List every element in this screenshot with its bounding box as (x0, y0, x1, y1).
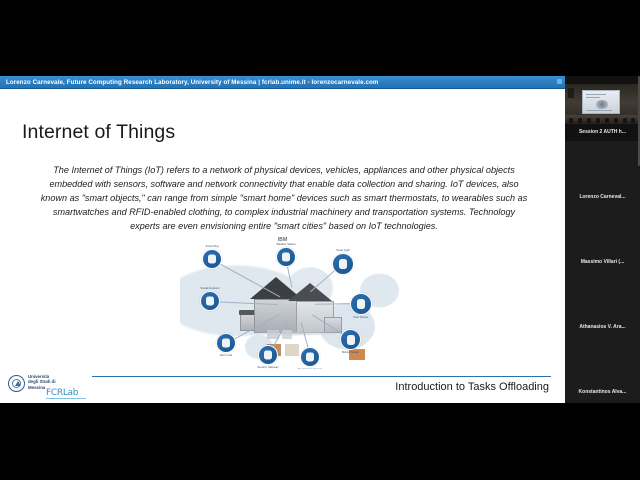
audience-head (614, 118, 618, 123)
participant-tile[interactable]: Session 2 AUTH h... (565, 76, 640, 141)
participant-name: Athanasios V. Ara... (565, 324, 640, 330)
university-name-line: degli Studi di (28, 379, 56, 384)
participant-rail[interactable]: Session 2 AUTH h...Lorenzo Carneval...Ma… (565, 76, 640, 403)
screen-text-line (586, 94, 606, 95)
fcrlab-logo-underline (46, 398, 86, 399)
fcrlab-logo-text: FCRLab (46, 388, 78, 398)
smart-home-iot-diagram: 123RF (180, 247, 412, 375)
iot-device-icon (347, 335, 355, 345)
audience-head (605, 118, 609, 123)
audience-head (569, 118, 573, 123)
projection-screen (582, 90, 620, 114)
house-illustration (248, 273, 344, 339)
iot-device-label: Door Lock (204, 354, 248, 357)
participant-tile[interactable]: Lorenzo Carneval... (565, 141, 640, 206)
participant-name: Session 2 AUTH h... (565, 129, 640, 135)
screen-text-line (586, 97, 600, 98)
audience-head (578, 118, 582, 123)
slide-footer-title: Introduction to Tasks Offloading (395, 381, 549, 393)
iot-device-icon (282, 253, 290, 262)
iot-device-node (350, 293, 372, 315)
participant-name: Lorenzo Carneval... (565, 194, 640, 200)
slide-header-text: Lorenzo Carnevale, Future Computing Rese… (0, 79, 378, 86)
audience-head (623, 118, 627, 123)
app-window: Lorenzo Carnevale, Future Computing Rese… (0, 0, 640, 480)
iot-device-icon (208, 255, 216, 264)
slide-header-corner-mark (557, 79, 562, 84)
participant-tile[interactable]: Athanasios V. Ara... (565, 271, 640, 336)
iot-device-label: Smart Plug (190, 245, 234, 248)
iot-device-node (202, 249, 222, 269)
iot-device-node (276, 247, 296, 267)
screen-text-line (586, 110, 612, 111)
footer-divider (92, 376, 551, 377)
participant-video (565, 84, 640, 124)
iot-device-label: Weather Station (264, 243, 308, 246)
letterbox-bottom (0, 403, 640, 480)
screen-figure (595, 100, 609, 109)
iot-device-node (332, 253, 354, 275)
iot-device-icon (339, 259, 347, 269)
slide-body: Internet of Things The Internet of Thing… (0, 89, 565, 403)
iot-device-label: Motion Sensor (329, 351, 373, 354)
university-seal-icon (8, 375, 25, 392)
iot-device-icon (206, 297, 214, 306)
iot-device-icon (357, 299, 365, 309)
participant-tile[interactable]: Konstantinos Alva... (565, 336, 640, 401)
participant-name: Massimo Villari (... (565, 259, 640, 265)
slide-title: Internet of Things (22, 121, 175, 144)
iot-device-label: Door Sensor (339, 316, 383, 319)
iot-device-label: Smoke Detector (188, 287, 232, 290)
room-wall (568, 88, 574, 98)
participant-tile[interactable]: Massimo Villari (... (565, 206, 640, 271)
iot-device-node (258, 345, 278, 365)
audience-head (587, 118, 591, 123)
audience-row (565, 115, 640, 124)
slide-footer: Introduction to Tasks Offloading Univers… (0, 369, 565, 403)
audience-head (596, 118, 600, 123)
participant-name: Konstantinos Alva... (565, 389, 640, 395)
audience-head (631, 118, 635, 123)
slide-quote-text: The Internet of Things (IoT) refers to a… (40, 163, 528, 233)
iot-device-icon (222, 339, 230, 348)
iot-device-label: Smart Light (321, 249, 365, 252)
iot-device-node (216, 333, 236, 353)
iot-device-node (340, 329, 361, 350)
university-logo: Università degli Studi di Messina FCRLab (8, 372, 94, 400)
iot-device-icon (306, 353, 314, 362)
participant-tile-list: Session 2 AUTH h...Lorenzo Carneval...Ma… (565, 76, 640, 401)
shared-screen-slide[interactable]: Lorenzo Carnevale, Future Computing Rese… (0, 76, 565, 403)
iot-device-icon (264, 351, 272, 360)
iot-device-node (200, 291, 220, 311)
house-ground-shadow (244, 331, 344, 336)
iot-device-node (300, 347, 320, 367)
room-cell (285, 344, 299, 356)
letterbox-top (0, 0, 640, 76)
slide-header-bar: Lorenzo Carnevale, Future Computing Rese… (0, 76, 565, 89)
